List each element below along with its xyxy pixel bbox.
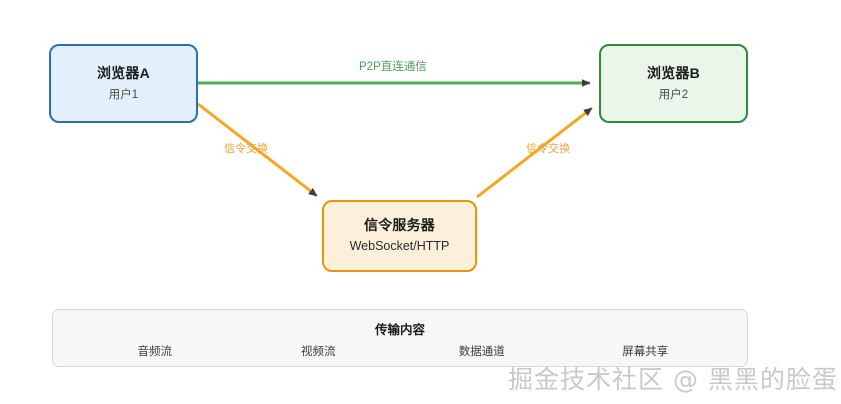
node-signaling-server-title: 信令服务器: [364, 216, 435, 234]
node-browser-b-subtitle: 用户2: [659, 87, 688, 103]
edge-label-signal-right: 信令交换: [526, 144, 570, 155]
transport-content-title: 传输内容: [53, 319, 747, 338]
transport-item: 数据通道: [400, 343, 564, 359]
transport-item: 视频流: [237, 343, 401, 359]
edge-label-p2p: P2P直连通信: [359, 62, 427, 74]
node-browser-b-title: 浏览器B: [647, 64, 700, 82]
edge-label-signal-left: 信令交换: [224, 144, 268, 155]
transport-item: 屏幕共享: [564, 343, 728, 359]
node-browser-a[interactable]: 浏览器A 用户1: [49, 44, 198, 123]
transport-content-panel: 传输内容 音频流 视频流 数据通道 屏幕共享: [52, 309, 748, 367]
node-browser-a-subtitle: 用户1: [109, 87, 138, 103]
watermark-text: 掘金技术社区 @ 黑黑的脸蛋: [508, 360, 838, 396]
transport-content-items: 音频流 视频流 数据通道 屏幕共享: [73, 343, 727, 359]
node-browser-b[interactable]: 浏览器B 用户2: [599, 44, 748, 123]
node-signaling-server[interactable]: 信令服务器 WebSocket/HTTP: [322, 200, 477, 272]
transport-item: 音频流: [73, 343, 237, 359]
node-signaling-server-subtitle: WebSocket/HTTP: [350, 238, 450, 256]
node-browser-a-title: 浏览器A: [97, 64, 150, 82]
